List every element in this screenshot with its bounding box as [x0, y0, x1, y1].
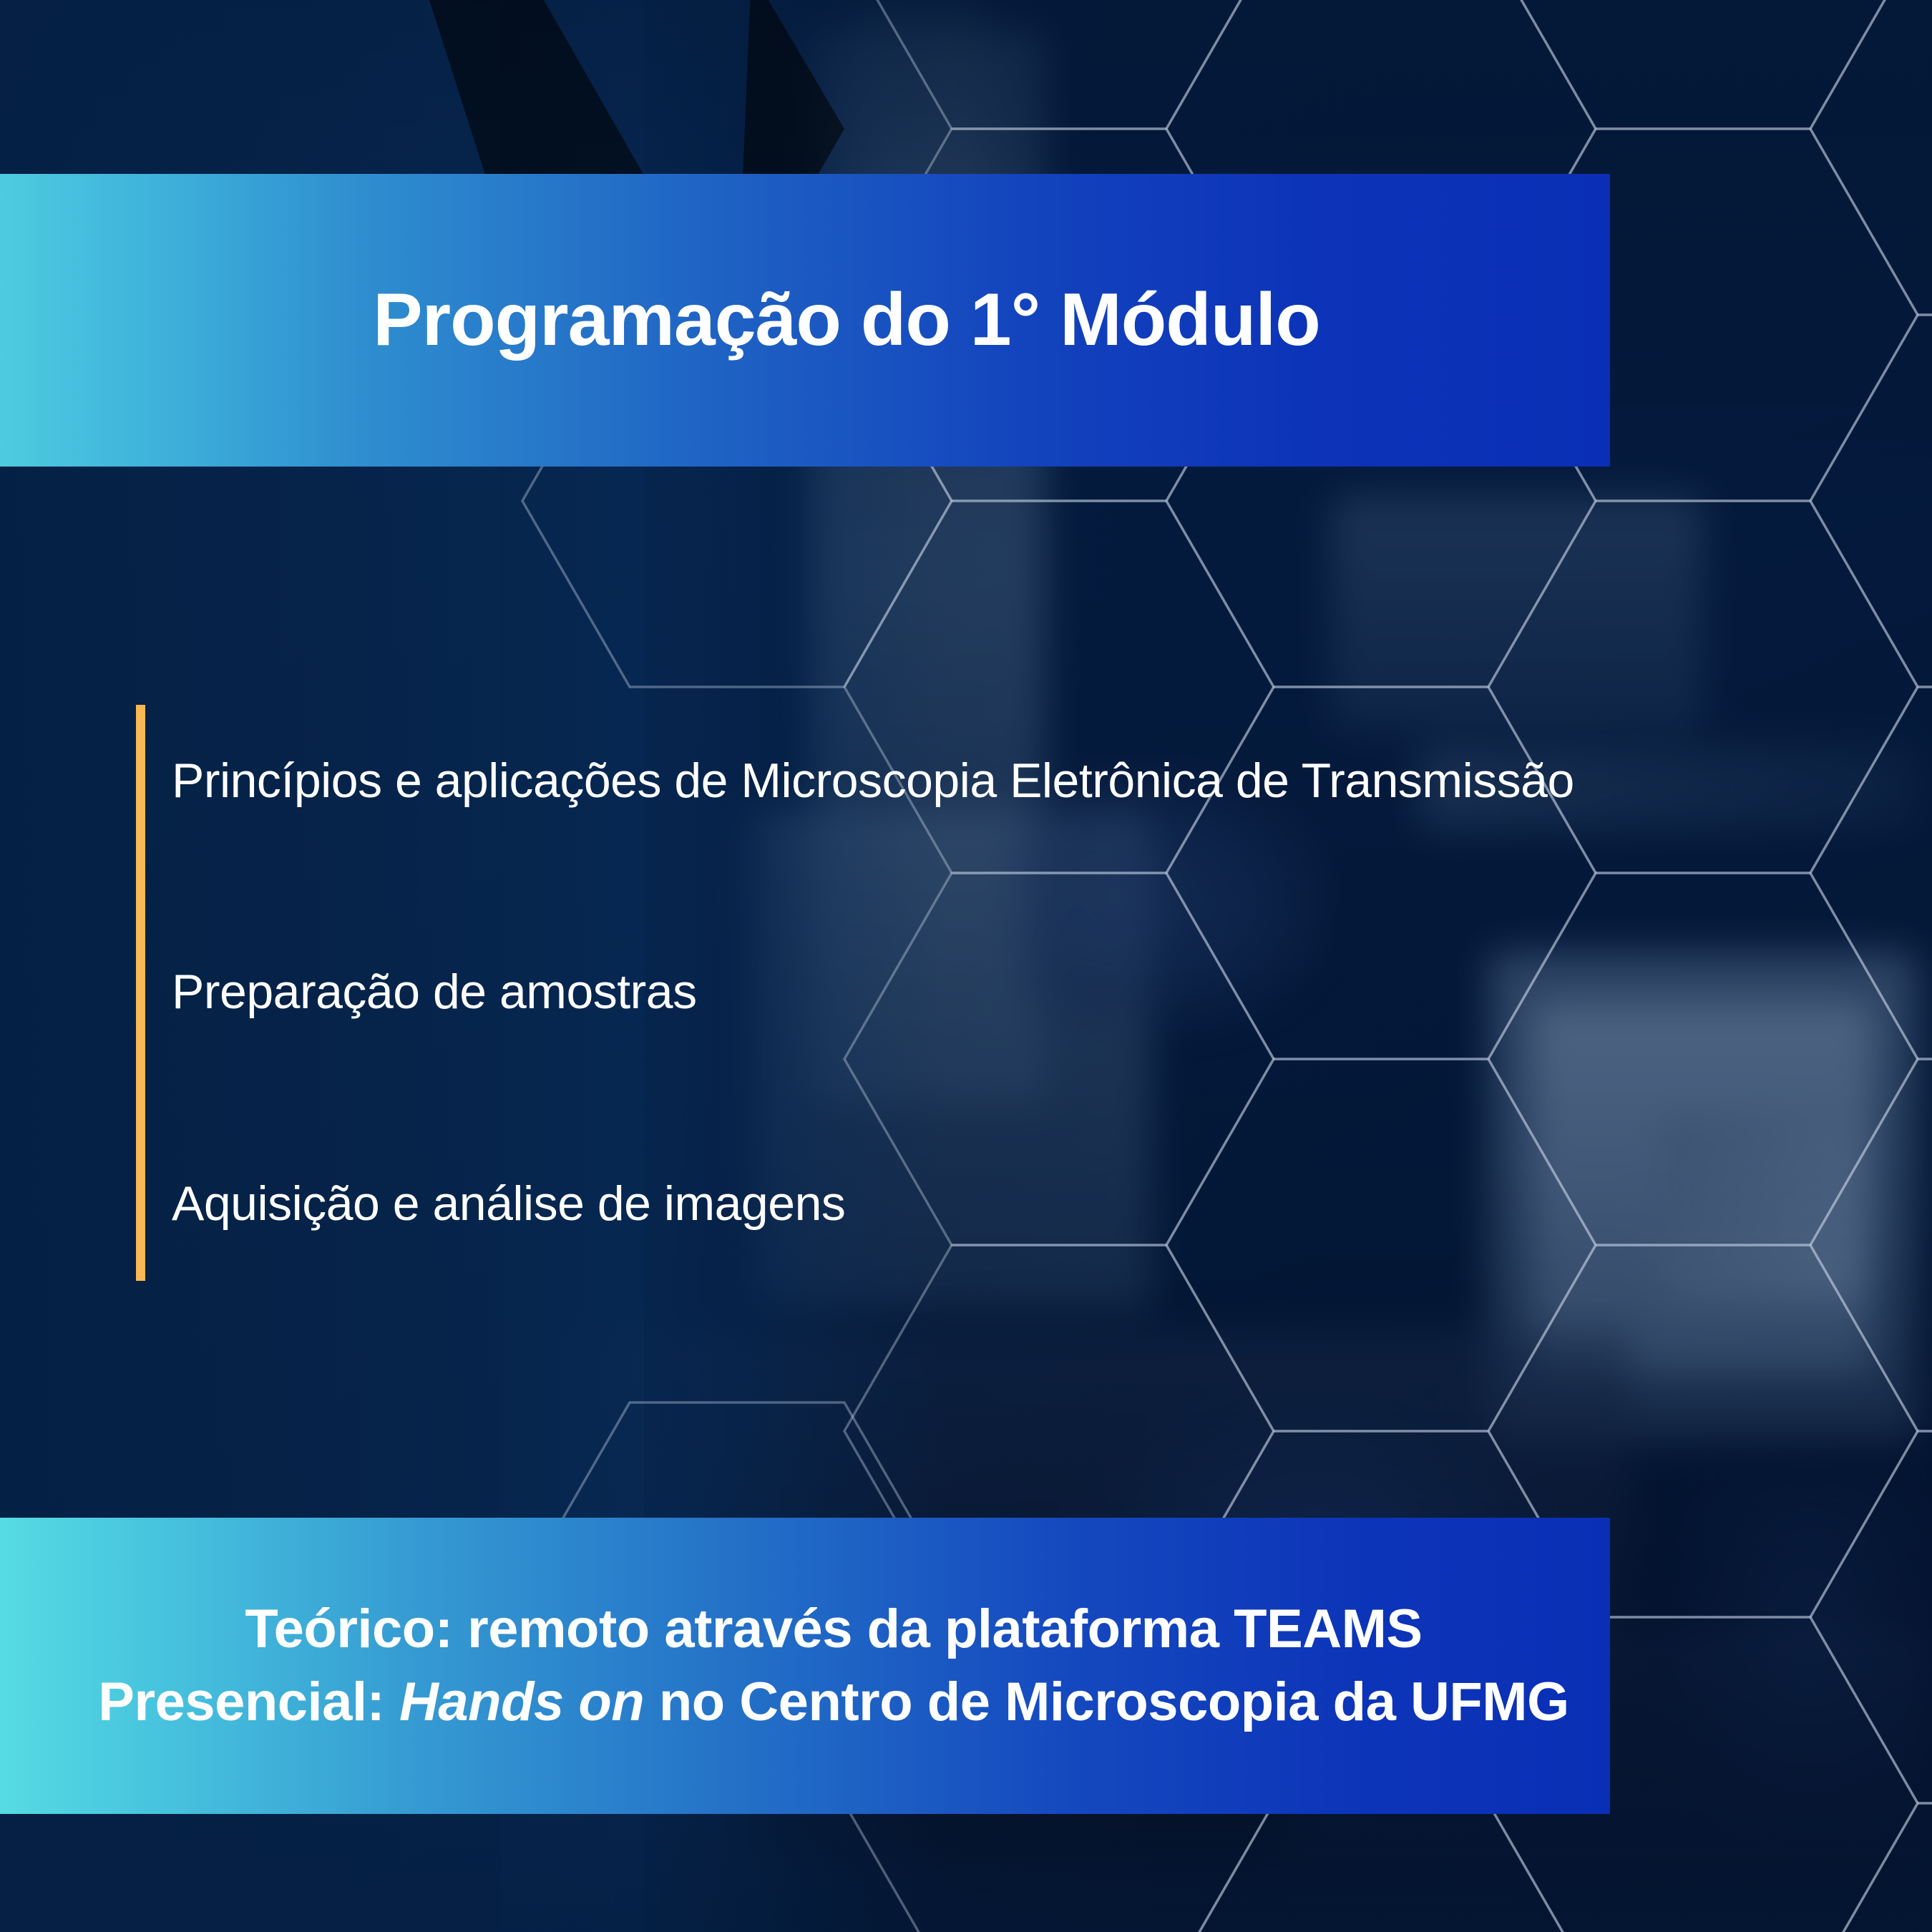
page-title: Programação do 1° Módulo — [373, 280, 1320, 360]
footer-line-onsite-emphasis: Hands on — [399, 1672, 644, 1732]
footer-line-remote: Teórico: remoto através da plataforma TE… — [245, 1593, 1422, 1666]
list-item: Princípios e aplicações de Microscopia E… — [172, 753, 1839, 808]
footer-line-onsite-prefix: Presencial: — [98, 1672, 399, 1732]
title-banner: Programação do 1° Módulo — [0, 174, 1610, 467]
agenda-items: Princípios e aplicações de Microscopia E… — [172, 705, 1839, 1281]
footer-banner: Teórico: remoto através da plataforma TE… — [0, 1518, 1610, 1814]
agenda-accent-rule — [136, 705, 145, 1281]
footer-line-onsite: Presencial: Hands on no Centro de Micros… — [98, 1666, 1568, 1739]
footer-line-remote-text: Teórico: remoto através da plataforma TE… — [245, 1599, 1422, 1659]
list-item: Preparação de amostras — [172, 965, 1839, 1019]
footer-line-onsite-suffix: no Centro de Microscopia da UFMG — [644, 1672, 1569, 1732]
list-item: Aquisição e análise de imagens — [172, 1176, 1839, 1231]
slide-canvas: Programação do 1° Módulo Princípios e ap… — [0, 0, 1932, 1932]
